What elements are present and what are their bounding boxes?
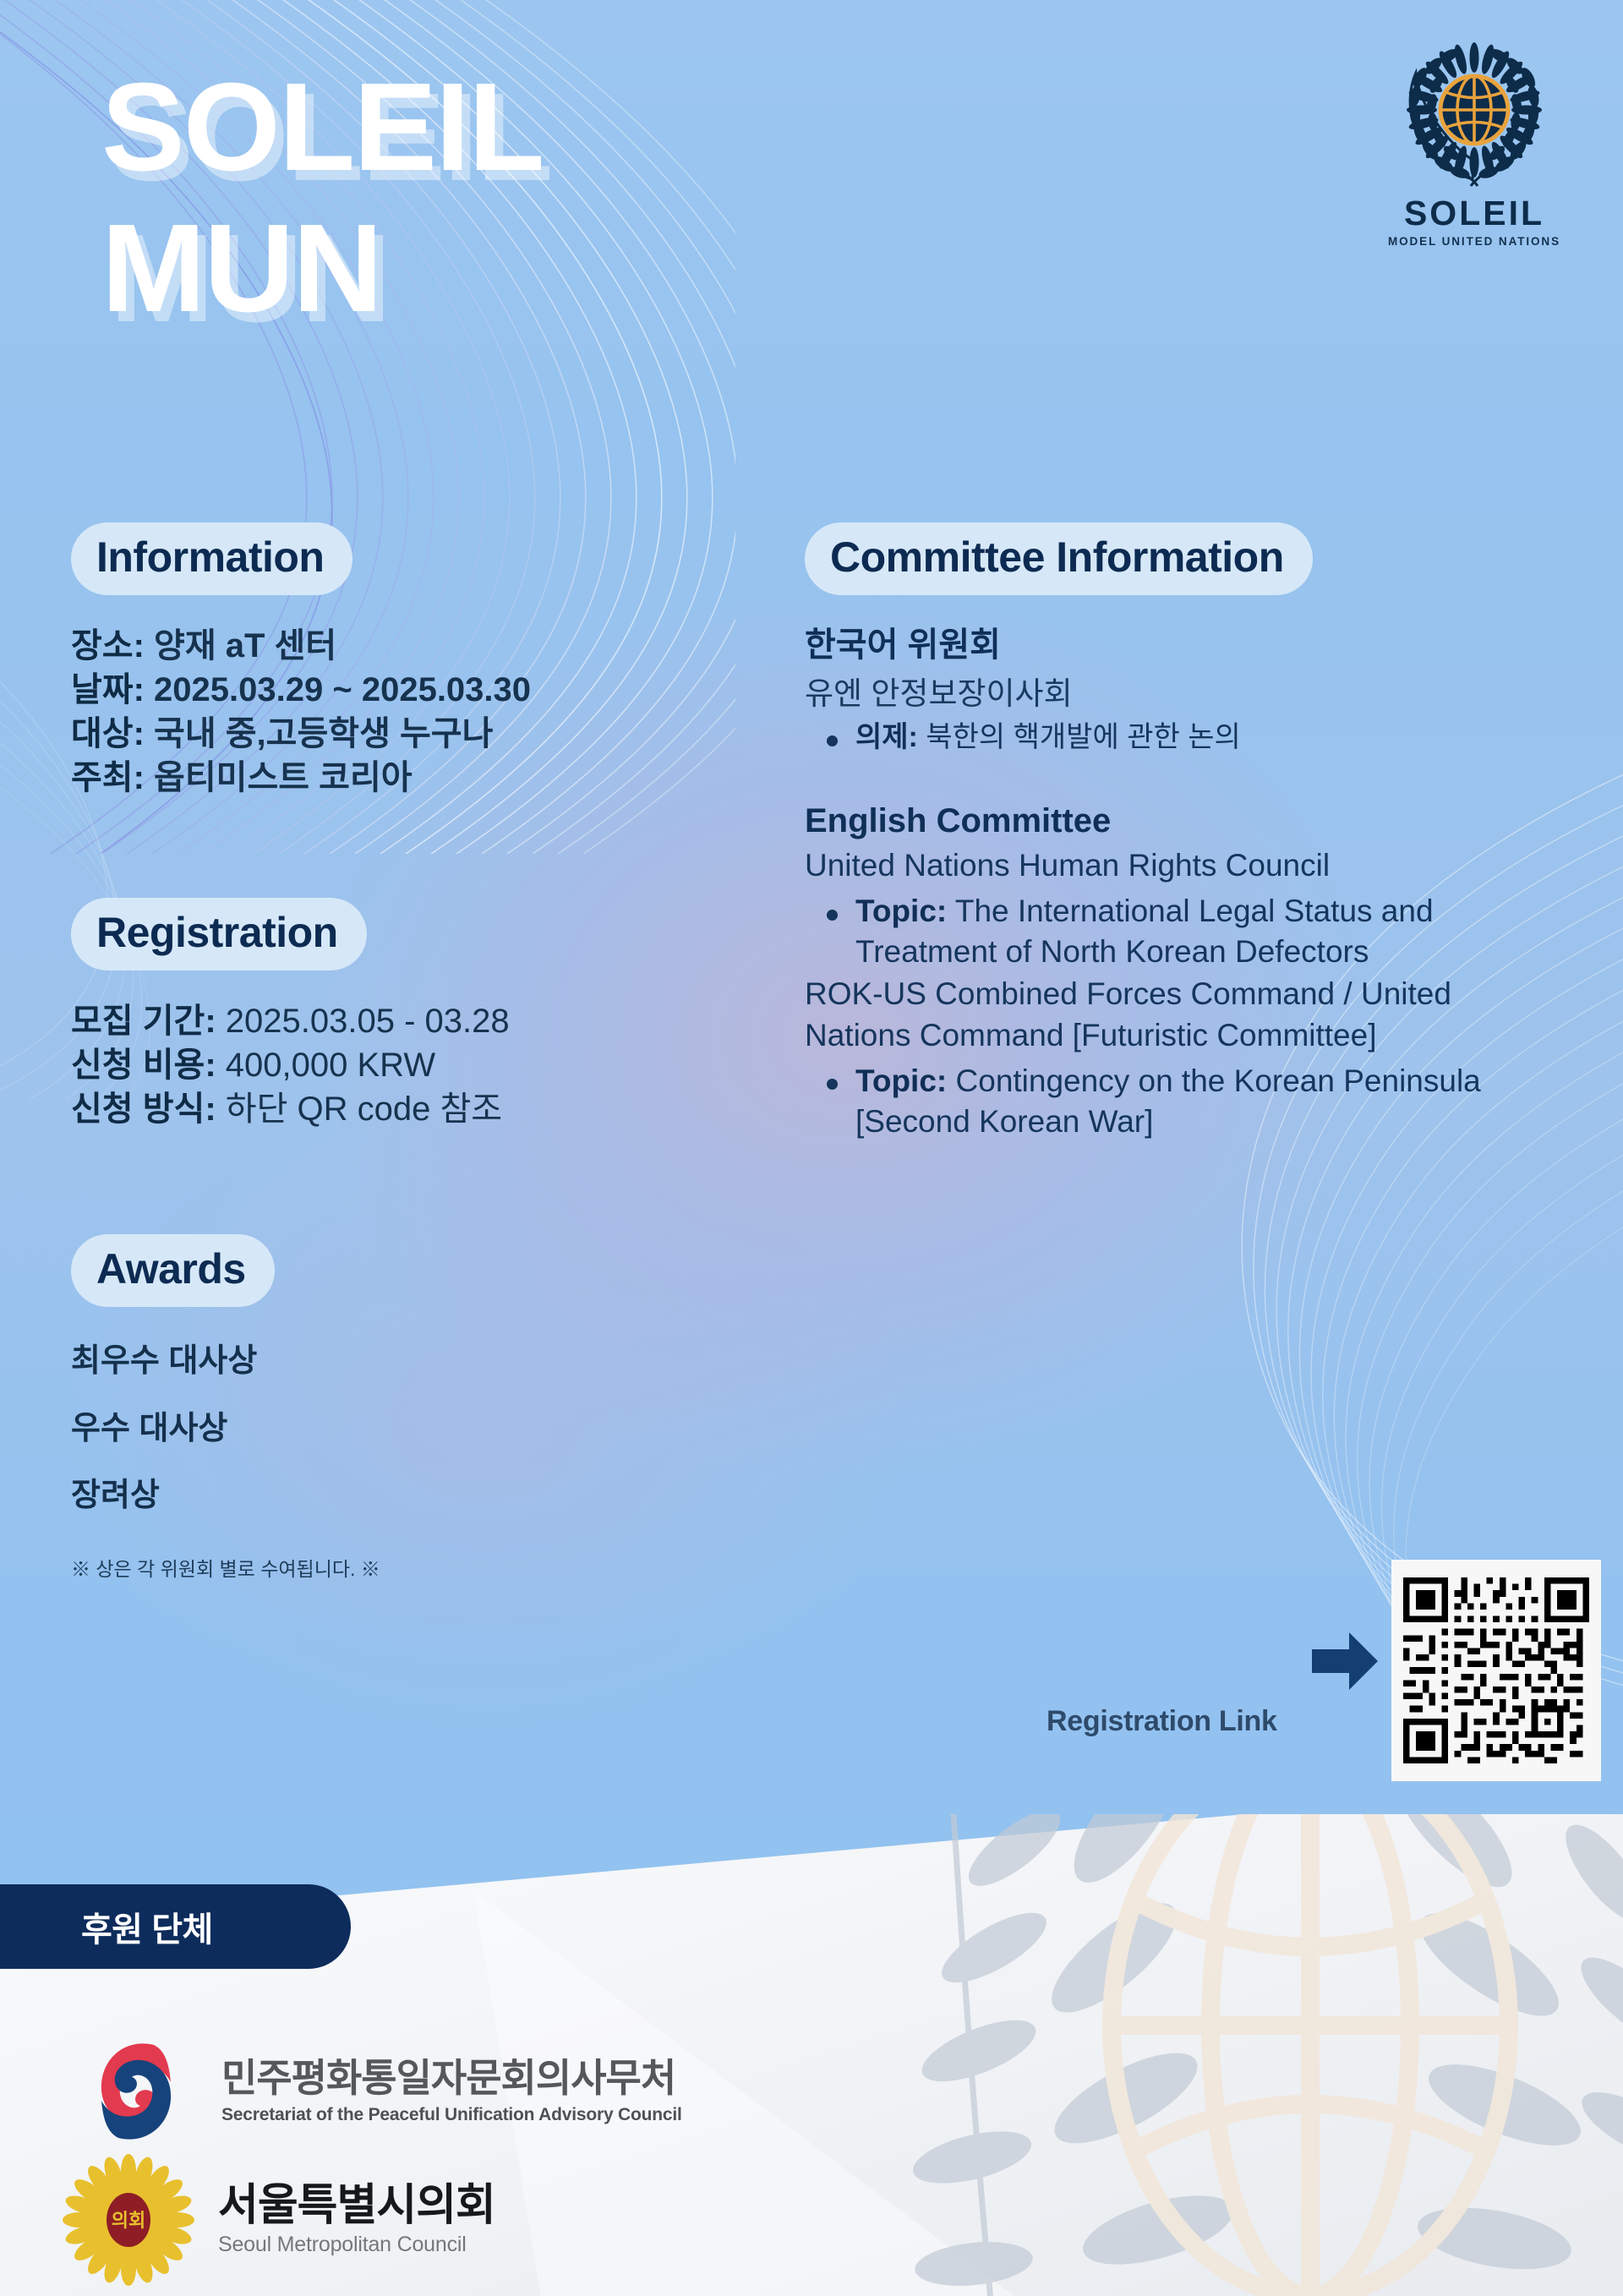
sponsor-name-ko: 서울특별시의회 bbox=[218, 2184, 495, 2228]
awards-note: ※ 상은 각 위원회 별로 수여됩니다. ※ bbox=[71, 1553, 764, 1582]
qr-code-icon[interactable] bbox=[1391, 1560, 1601, 1781]
english-committee-topics-2: Topic: Contingency on the Korean Peninsu… bbox=[805, 1061, 1566, 1142]
poster-title: SOLEIL MUN bbox=[101, 66, 543, 330]
english-committee-topics-1: Topic: The International Legal Status an… bbox=[805, 891, 1566, 972]
korean-committee-council: 유엔 안정보장이사회 bbox=[805, 668, 1566, 713]
reg-row-fee: 신청 비용: 400,000 KRW bbox=[71, 1043, 764, 1087]
info-value-date: 2025.03.29 ~ 2025.03.30 bbox=[154, 671, 531, 708]
reg-key-fee: 신청 비용: bbox=[71, 1047, 216, 1084]
award-item: 최우수 대사상 bbox=[71, 1342, 764, 1381]
info-key-date: 날짜: bbox=[71, 671, 145, 708]
registration-heading: Registration bbox=[71, 898, 367, 970]
english-committee-group: English Committee United Nations Human R… bbox=[805, 800, 1566, 1142]
info-key-audience: 대상: bbox=[71, 715, 145, 752]
registration-section: Registration 모집 기간: 2025.03.05 - 03.28 신… bbox=[71, 898, 764, 1131]
english-committee-council-2: ROK-US Combined Forces Command / United … bbox=[805, 974, 1566, 1055]
korean-topic-label: 의제: bbox=[855, 721, 918, 753]
korean-committee-topic: 의제: 북한의 핵개발에 관한 논의 bbox=[805, 719, 1566, 756]
reg-row-period: 모집 기간: 2025.03.05 - 03.28 bbox=[71, 999, 764, 1043]
registration-link-area[interactable]: Registration Link bbox=[1023, 1560, 1581, 1779]
sponsor-text: 서울특별시의회 Seoul Metropolitan Council bbox=[218, 2184, 495, 2257]
english-committee-topic: Topic: The International Legal Status an… bbox=[805, 891, 1566, 972]
laurel-globe-icon bbox=[1390, 25, 1559, 194]
sponsor-name-en: Secretariat of the Peaceful Unification … bbox=[221, 2105, 682, 2125]
korean-topic-text: 북한의 핵개발에 관한 논의 bbox=[918, 721, 1241, 753]
reg-value-period: 2025.03.05 - 03.28 bbox=[226, 1003, 510, 1040]
info-key-host: 주최: bbox=[71, 759, 145, 796]
reg-row-method: 신청 방식: 하단 QR code 참조 bbox=[71, 1087, 764, 1131]
info-value-venue: 양재 aT 센터 bbox=[154, 627, 336, 664]
registration-link-label: Registration Link bbox=[1046, 1705, 1277, 1738]
sponsor-text: 민주평화통일자문회의사무처 Secretariat of the Peacefu… bbox=[221, 2058, 682, 2125]
registration-list: 모집 기간: 2025.03.05 - 03.28 신청 비용: 400,000… bbox=[71, 999, 764, 1131]
award-item: 우수 대사상 bbox=[71, 1410, 764, 1449]
info-row-venue: 장소: 양재 aT 센터 bbox=[71, 624, 764, 668]
info-value-audience: 국내 중,고등학생 누구나 bbox=[154, 715, 493, 752]
globe-laurel-watermark-icon bbox=[913, 1814, 1623, 2296]
sponsor-name-en: Seoul Metropolitan Council bbox=[218, 2233, 495, 2257]
reg-value-method-pre: 하단 bbox=[226, 1091, 298, 1128]
information-list: 장소: 양재 aT 센터 날짜: 2025.03.29 ~ 2025.03.30… bbox=[71, 624, 764, 800]
english-topic-label: Topic: bbox=[855, 1063, 947, 1098]
logo-wordmark: SOLEIL bbox=[1361, 196, 1587, 231]
poster-canvas: SOLEIL MUN bbox=[0, 0, 1623, 2296]
svg-text:의회: 의회 bbox=[112, 2210, 145, 2231]
reg-value-fee: 400,000 KRW bbox=[226, 1047, 435, 1084]
sponsor-name-ko: 민주평화통일자문회의사무처 bbox=[221, 2058, 682, 2097]
right-column: Committee Information 한국어 위원회 유엔 안정보장이사회… bbox=[805, 522, 1566, 1144]
english-committee-topic: Topic: Contingency on the Korean Peninsu… bbox=[805, 1061, 1566, 1142]
english-committee-name: English Committee bbox=[805, 800, 1566, 842]
korean-committee-name: 한국어 위원회 bbox=[805, 624, 1566, 666]
committee-information-heading: Committee Information bbox=[805, 522, 1313, 595]
english-topic-text: Contingency on the Korean Peninsula [Sec… bbox=[855, 1063, 1481, 1139]
english-topic-label: Topic: bbox=[855, 894, 947, 928]
award-item: 장려상 bbox=[71, 1477, 764, 1516]
info-row-host: 주최: 옵티미스트 코리아 bbox=[71, 756, 764, 800]
awards-section: Awards 최우수 대사상 우수 대사상 장려상 ※ 상은 각 위원회 별로 … bbox=[71, 1234, 764, 1582]
sponsor-item: 의회 서울특별시의회 Seoul Metropolitan Council bbox=[61, 2152, 495, 2288]
sponsor-badge: 후원 단체 bbox=[0, 1884, 351, 1969]
korean-committee-group: 한국어 위원회 유엔 안정보장이사회 의제: 북한의 핵개발에 관한 논의 bbox=[805, 624, 1566, 756]
info-key-venue: 장소: bbox=[71, 627, 145, 664]
qr-code-matrix bbox=[1403, 1572, 1589, 1769]
left-column: Information 장소: 양재 aT 센터 날짜: 2025.03.29 … bbox=[71, 522, 764, 1582]
logo-tagline: MODEL UNITED NATIONS bbox=[1361, 235, 1587, 248]
reg-key-method: 신청 방식: bbox=[71, 1091, 216, 1128]
korean-committee-topics: 의제: 북한의 핵개발에 관한 논의 bbox=[805, 719, 1566, 756]
information-section: Information 장소: 양재 aT 센터 날짜: 2025.03.29 … bbox=[71, 522, 764, 800]
info-row-date: 날짜: 2025.03.29 ~ 2025.03.30 bbox=[71, 668, 764, 712]
reg-value-method-post: 참조 bbox=[430, 1091, 502, 1128]
seoul-council-emblem-icon: 의회 bbox=[61, 2152, 196, 2288]
sponsor-item: 민주평화통일자문회의사무처 Secretariat of the Peacefu… bbox=[73, 2028, 682, 2155]
information-heading: Information bbox=[71, 522, 352, 595]
sponsor-badge-label: 후원 단체 bbox=[0, 1902, 213, 1951]
info-row-audience: 대상: 국내 중,고등학생 누구나 bbox=[71, 712, 764, 756]
arrow-right-icon bbox=[1312, 1631, 1378, 1692]
korea-government-taegeuk-icon bbox=[73, 2028, 199, 2155]
reg-value-method-emphasis: QR code bbox=[297, 1091, 430, 1128]
english-committee-council-1: United Nations Human Rights Council bbox=[805, 845, 1566, 886]
info-value-host: 옵티미스트 코리아 bbox=[154, 759, 413, 796]
awards-heading: Awards bbox=[71, 1234, 275, 1307]
sponsor-panel: 후원 단체 민주평화통일자문회의사무처 Secretariat of the P… bbox=[0, 1814, 1623, 2296]
title-line-1: SOLEIL bbox=[101, 66, 543, 189]
title-line-2: MUN bbox=[101, 207, 543, 330]
reg-key-period: 모집 기간: bbox=[71, 1003, 216, 1040]
soleil-logo: SOLEIL MODEL UNITED NATIONS bbox=[1361, 25, 1587, 248]
